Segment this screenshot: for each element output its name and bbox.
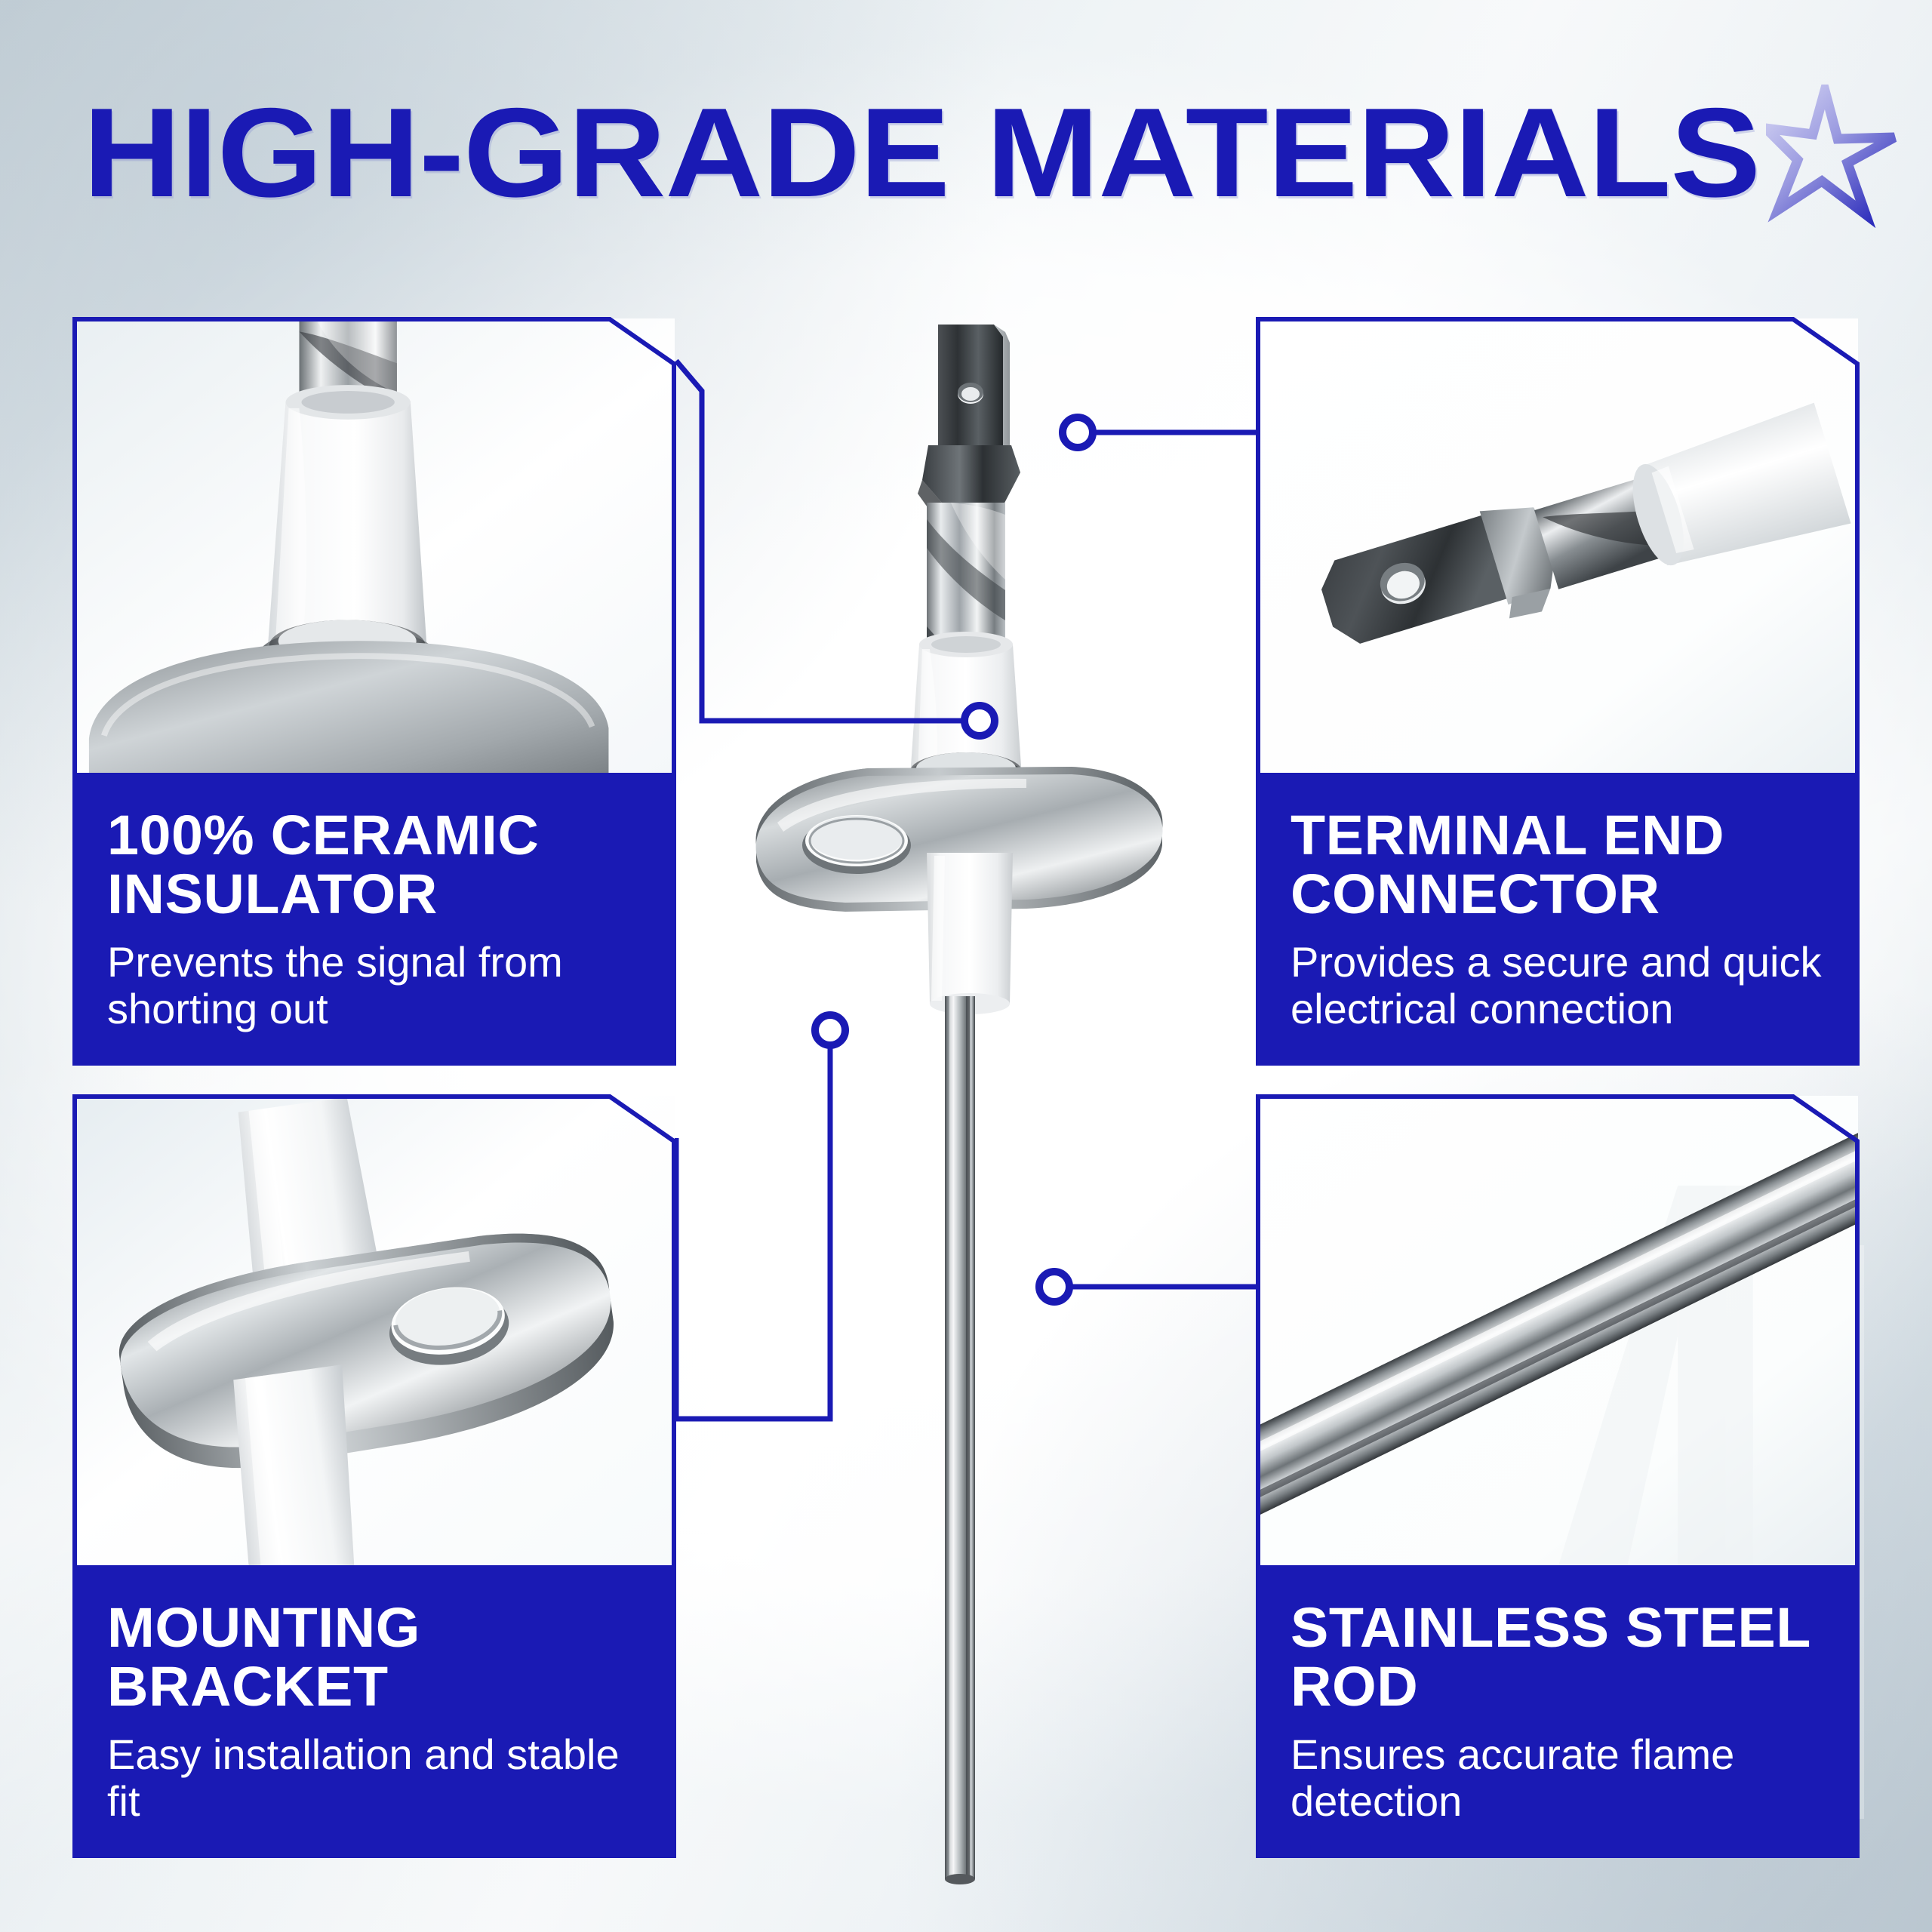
caption-title: MOUNTING BRACKET: [107, 1598, 652, 1716]
feature-panel-ceramic-insulator[interactable]: 100% CERAMIC INSULATOR Prevents the sign…: [72, 317, 676, 1066]
caption-subtitle: Prevents the signal from shorting out: [107, 939, 641, 1032]
terminal-end-connector-closeup-photo: [1256, 317, 1860, 777]
lower-ceramic-sleeve-part: [927, 853, 1013, 1014]
spade-terminal-part: [918, 325, 1020, 525]
caption-mounting-bracket: MOUNTING BRACKET Easy installation and s…: [72, 1570, 676, 1858]
caption-subtitle: Ensures accurate flame detection: [1291, 1731, 1825, 1825]
caption-title: STAINLESS STEEL ROD: [1291, 1598, 1835, 1716]
page-title: HIGH-GRADE MATERIALS: [83, 89, 1760, 216]
feature-panel-stainless-rod[interactable]: STAINLESS STEEL ROD Ensures accurate fla…: [1256, 1094, 1860, 1858]
caption-title: 100% CERAMIC INSULATOR: [107, 806, 652, 924]
mounting-bracket-closeup-photo: [72, 1094, 676, 1570]
infographic-canvas: HIGH-GRADE MATERIALS: [0, 0, 1932, 1932]
caption-stainless-rod: STAINLESS STEEL ROD Ensures accurate fla…: [1256, 1570, 1860, 1858]
feature-panel-terminal-connector[interactable]: TERMINAL END CONNECTOR Provides a secure…: [1256, 317, 1860, 1066]
feature-panel-mounting-bracket[interactable]: MOUNTING BRACKET Easy installation and s…: [72, 1094, 676, 1858]
caption-terminal-connector: TERMINAL END CONNECTOR Provides a secure…: [1256, 777, 1860, 1066]
star-outline-icon: [1766, 85, 1906, 228]
page-header: HIGH-GRADE MATERIALS: [0, 89, 1932, 232]
caption-subtitle: Easy installation and stable fit: [107, 1731, 641, 1825]
twisted-steel-stem-part: [927, 503, 1005, 654]
caption-title: TERMINAL END CONNECTOR: [1291, 806, 1835, 924]
stainless-steel-rod-closeup-photo: [1256, 1094, 1860, 1570]
caption-subtitle: Provides a secure and quick electrical c…: [1291, 939, 1825, 1032]
product-hero-image: [724, 325, 1207, 1894]
stainless-steel-rod-part: [945, 996, 975, 1884]
ceramic-insulator-closeup-photo: [72, 317, 676, 777]
caption-ceramic-insulator: 100% CERAMIC INSULATOR Prevents the sign…: [72, 777, 676, 1066]
